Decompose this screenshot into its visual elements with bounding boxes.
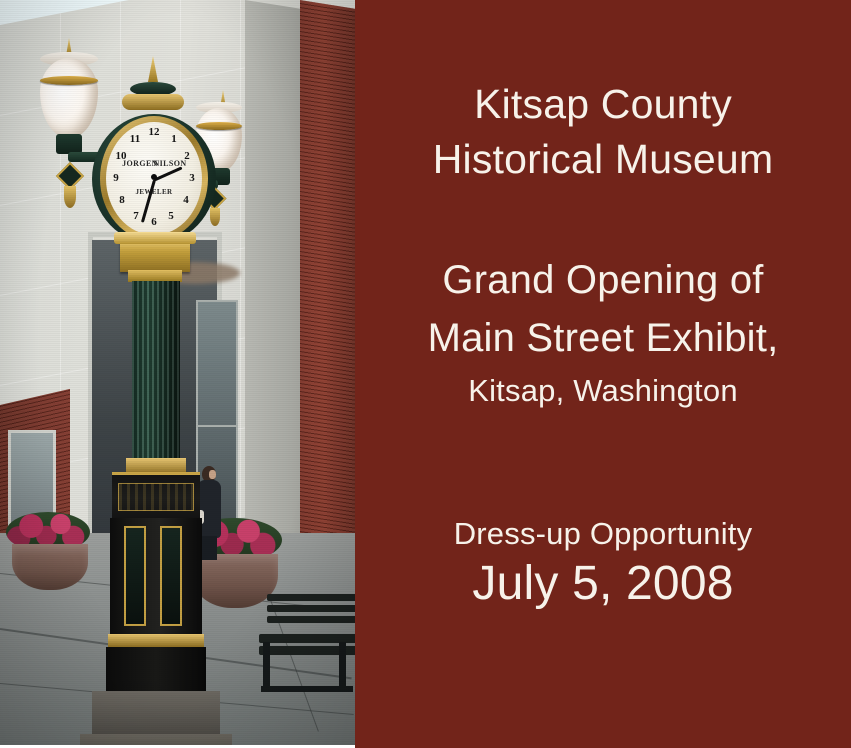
clock-brand-line3: JEWELER: [106, 188, 202, 196]
clock-face: 12 1 2 3 4 5 6 7 8 9 10 11 JORGEN NILSON…: [106, 122, 202, 235]
street-clock: 12 1 2 3 4 5 6 7 8 9 10 11 JORGEN NILSON…: [44, 38, 259, 738]
clock-numeral-11: 11: [128, 134, 142, 145]
clock-numeral-6: 6: [147, 217, 161, 228]
clock-numeral-3: 3: [185, 173, 199, 184]
photo-scene: 12 1 2 3 4 5 6 7 8 9 10 11 JORGEN NILSON…: [0, 0, 355, 748]
museum-title-line1: Kitsap County: [355, 84, 851, 125]
event-subtitle: Dress-up Opportunity: [355, 518, 851, 549]
event-title-line2: Main Street Exhibit,: [355, 318, 851, 358]
text-panel: Kitsap County Historical Museum Grand Op…: [355, 0, 851, 748]
pedestal-gold-band: [108, 634, 204, 647]
clock-finial: [148, 56, 158, 82]
pedestal-lower-block: [106, 647, 206, 691]
clock-numeral-5: 5: [164, 211, 178, 222]
clock-hands-hub: [151, 174, 157, 180]
event-date: July 5, 2008: [355, 560, 851, 608]
event-title-line1: Grand Opening of: [355, 260, 851, 300]
lamp-globe-left: [40, 58, 98, 138]
clock-hour-hand: [154, 166, 183, 181]
event-location: Kitsap, Washington: [355, 375, 851, 406]
park-bench: [253, 590, 355, 710]
clock-numeral-4: 4: [179, 195, 193, 206]
clock-numeral-12: 12: [147, 127, 161, 138]
clock-brand-line2: NILSON: [122, 159, 202, 168]
photograph: 12 1 2 3 4 5 6 7 8 9 10 11 JORGEN NILSON…: [0, 0, 355, 748]
clock-pedestal: [110, 518, 202, 634]
column-capital: [120, 238, 190, 272]
clock-numeral-9: 9: [109, 173, 123, 184]
clock-numeral-1: 1: [167, 134, 181, 145]
pedestal-cornice: [112, 472, 200, 521]
clock-numeral-8: 8: [115, 195, 129, 206]
clock-column: [132, 281, 180, 461]
poster: 12 1 2 3 4 5 6 7 8 9 10 11 JORGEN NILSON…: [0, 0, 851, 748]
museum-title-line2: Historical Museum: [355, 139, 851, 180]
